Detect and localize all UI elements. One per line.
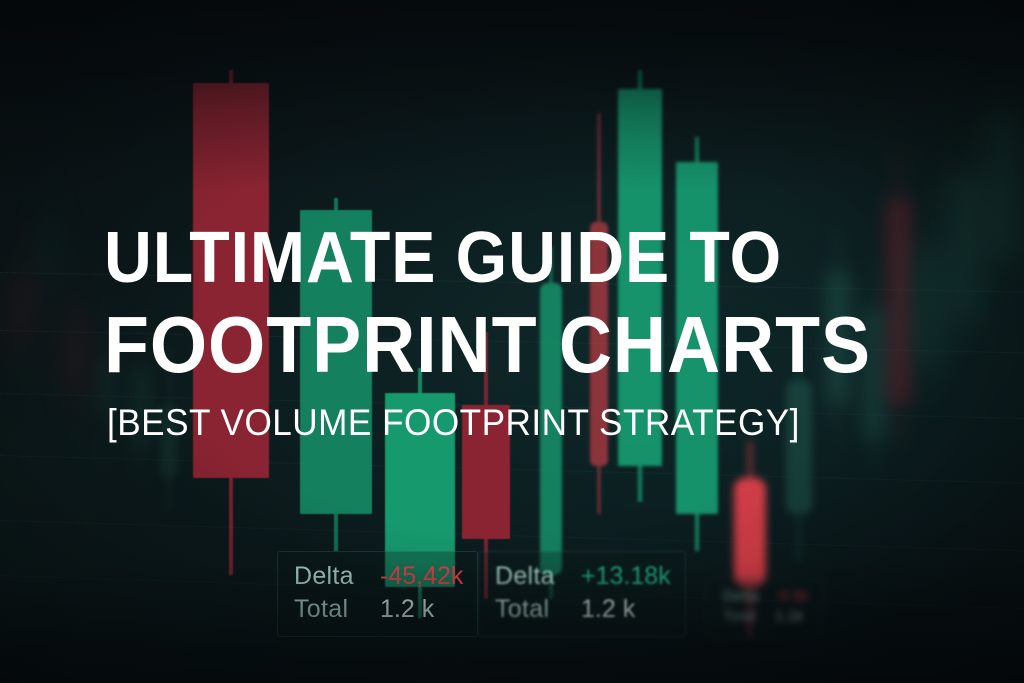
candle-11 xyxy=(590,113,608,514)
candle-4 xyxy=(132,314,150,490)
candle-6 xyxy=(193,70,269,575)
candle-body xyxy=(862,308,886,442)
candle-body xyxy=(618,89,662,466)
candle-body xyxy=(15,271,29,344)
candle-2 xyxy=(68,259,84,429)
candle-body xyxy=(160,405,178,478)
footprint-panel-2: Delta +13.18k Total 1.2 k xyxy=(478,551,686,637)
poster-canvas: Delta -45,42k Total 1.2 k Delta +13.18k … xyxy=(0,0,1024,683)
candle-10 xyxy=(540,247,562,600)
delta-row: Delta -45,42k xyxy=(294,560,463,593)
candle-body xyxy=(676,162,718,515)
candle-16 xyxy=(826,222,850,441)
total-row: Total 1.2 k xyxy=(495,593,671,626)
candle-13 xyxy=(676,137,718,550)
candle-body xyxy=(990,113,1016,259)
candle-body xyxy=(68,314,84,393)
candle-7 xyxy=(300,198,372,551)
candle-body xyxy=(42,222,56,295)
total-value: 1.2 k xyxy=(380,593,434,626)
delta-row: Delta +13.18k xyxy=(495,560,671,593)
total-value: 1.1k xyxy=(775,607,803,627)
candle-21 xyxy=(990,76,1016,295)
candle-body xyxy=(952,174,978,320)
candle-body xyxy=(540,283,562,575)
candle-body xyxy=(132,368,150,447)
candle-18 xyxy=(888,149,910,447)
candle-1 xyxy=(42,174,56,344)
candle-0 xyxy=(15,222,29,380)
delta-value: -45,42k xyxy=(380,560,463,593)
candle-15 xyxy=(786,332,812,563)
delta-label: Delta xyxy=(294,560,380,593)
total-row: Total 1.2 k xyxy=(294,593,463,626)
candle-body xyxy=(100,356,116,417)
candle-body xyxy=(734,478,766,587)
candle-19 xyxy=(916,198,940,405)
footprint-panel-1: Delta -45,42k Total 1.2 k xyxy=(277,551,478,637)
total-label: Total xyxy=(294,593,380,626)
candle-17 xyxy=(862,259,886,478)
candle-20 xyxy=(952,125,978,356)
candle-3 xyxy=(100,295,116,465)
delta-label: Delta xyxy=(495,560,581,593)
candle-body xyxy=(193,83,269,478)
total-value: 1.2 k xyxy=(581,593,635,626)
candle-body xyxy=(786,380,812,514)
candle-body xyxy=(590,222,608,465)
footprint-panel-3: Delta -9.9k Total 1.1k xyxy=(706,578,823,638)
delta-row: Delta -9.9k xyxy=(723,587,808,607)
candle-body xyxy=(300,210,372,514)
candle-body xyxy=(888,198,910,405)
candle-body xyxy=(916,247,940,369)
candle-body xyxy=(462,405,510,539)
candle-5 xyxy=(160,344,178,514)
total-label: Total xyxy=(495,593,581,626)
delta-value: +13.18k xyxy=(581,560,671,593)
candle-body xyxy=(826,271,850,405)
total-label: Total xyxy=(723,607,775,627)
total-row: Total 1.1k xyxy=(723,607,808,627)
delta-value: -9.9k xyxy=(775,587,808,607)
delta-label: Delta xyxy=(723,587,775,607)
candle-12 xyxy=(618,70,662,502)
